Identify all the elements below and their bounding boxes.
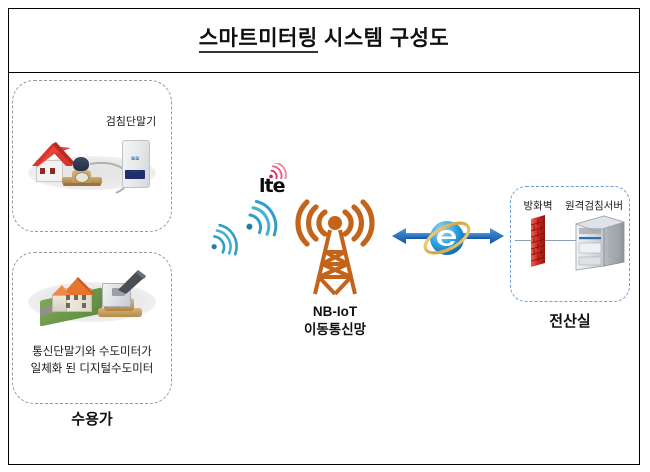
- lte-label: lte: [259, 175, 284, 197]
- terminal-logo: ≋≋: [124, 156, 146, 162]
- caption-line-2: 일체화 된 디지털수도미터: [12, 361, 172, 378]
- meter-terminal-label: 검침단말기: [96, 113, 166, 129]
- wireless-signal-icon: [240, 200, 280, 242]
- network-label: NB-IoT 이동통신망: [280, 303, 390, 338]
- network-label-line-1: NB-IoT: [280, 303, 390, 321]
- page-title-underlined: 스마트미터링: [199, 27, 318, 53]
- page-title-rest: 시스템 구성도: [324, 27, 449, 50]
- page-title: 스마트미터링 시스템 구성도: [8, 22, 640, 52]
- cell-tower-icon: [287, 198, 383, 298]
- title-separator: [8, 72, 640, 73]
- server-room-label: 전산실: [510, 310, 630, 331]
- caption-line-1: 통신단말기와 수도미터가: [12, 344, 172, 361]
- server-label: 원격검침서버: [556, 198, 632, 213]
- server-tower-icon: [572, 212, 628, 272]
- terminal-label-strip: · · · ·: [125, 170, 145, 179]
- consumer-zone-label: 수용가: [12, 408, 172, 429]
- wireless-signal-icon: [206, 224, 240, 260]
- diagram-page: 스마트미터링 시스템 구성도 검침단말기 ≋≋ · · · ·: [0, 0, 650, 472]
- digital-meter-caption: 통신단말기와 수도미터가 일체화 된 디지털수도미터: [12, 344, 172, 377]
- firewall-brick-icon: [528, 215, 548, 267]
- network-label-line-2: 이동통신망: [280, 321, 390, 339]
- internet-explorer-icon: [421, 213, 473, 261]
